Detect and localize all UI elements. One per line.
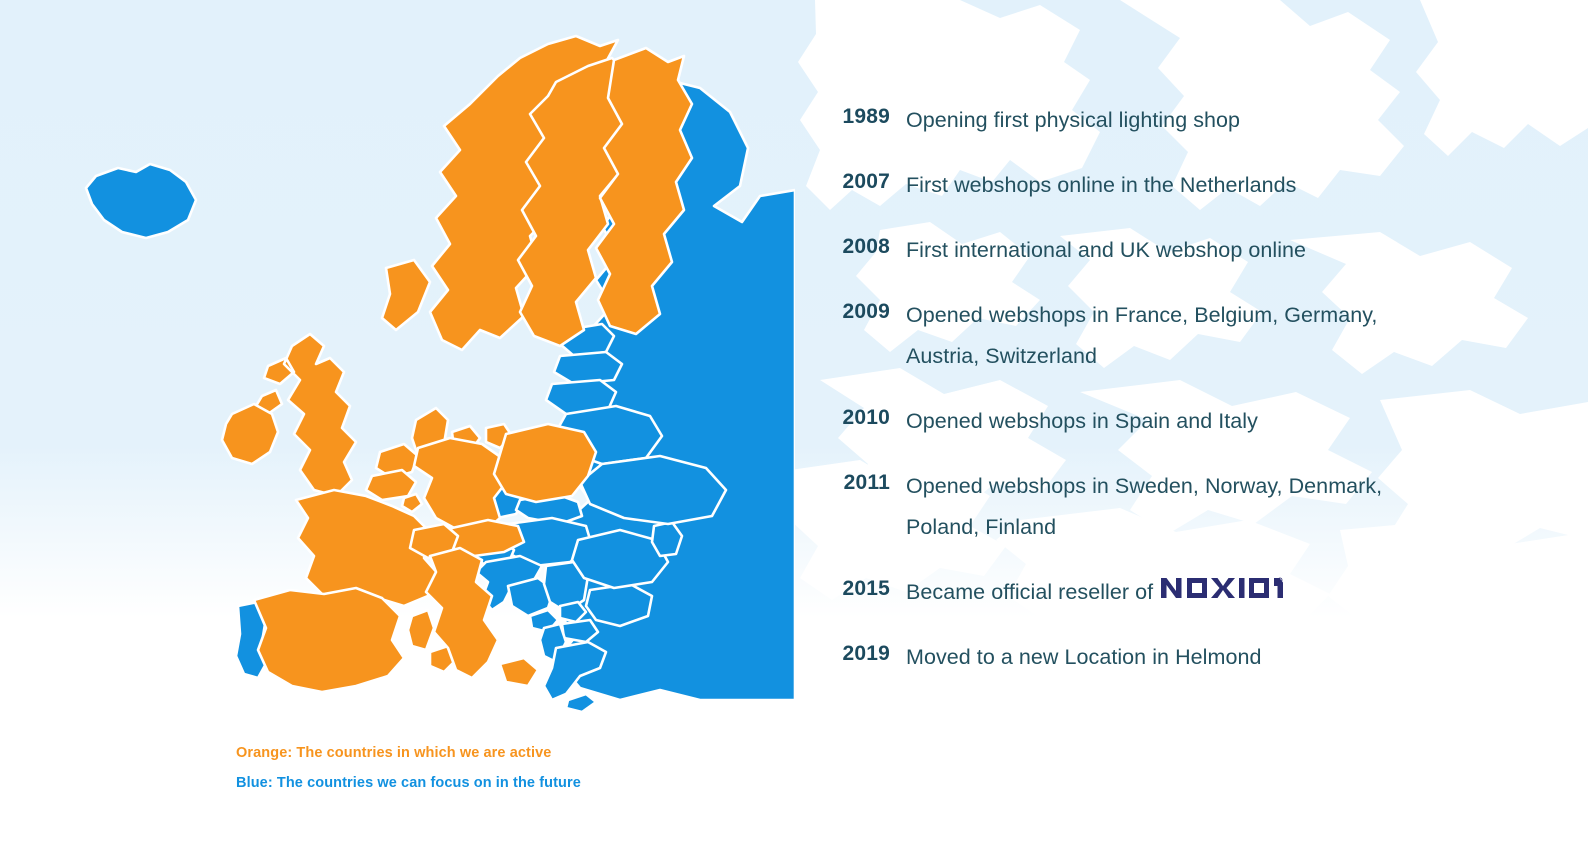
timeline-description-line1: Opened webshops in Spain and Italy [906,409,1258,433]
timeline-description-line1: First international and UK webshop onlin… [906,238,1306,262]
timeline-row: 2019 Moved to a new Location in Helmond [828,637,1528,678]
timeline-list: 1989 Opening first physical lighting sho… [828,100,1528,678]
timeline-description: First webshops online in the Netherlands [890,165,1528,206]
timeline-description: First international and UK webshop onlin… [890,230,1528,271]
infographic-root: Orange: The countries in which we are ac… [0,0,1588,850]
timeline-row: 2008 First international and UK webshop … [828,230,1528,271]
timeline-year: 2011 [828,466,890,499]
timeline-year: 2009 [828,295,890,328]
map-legend: Orange: The countries in which we are ac… [236,738,756,798]
timeline-row: 2015 Became official reseller of [828,572,1528,613]
timeline-description: Opened webshops in Sweden, Norway, Denma… [890,466,1528,548]
timeline-year: 2019 [828,637,890,670]
timeline-row: 1989 Opening first physical lighting sho… [828,100,1528,141]
timeline-year: 1989 [828,100,890,133]
timeline-description-line1: Became official reseller of [906,580,1153,604]
timeline-description-line1: Opened webshops in Sweden, Norway, Denma… [906,474,1382,498]
timeline-year: 2007 [828,165,890,198]
timeline-description-line1: Moved to a new Location in Helmond [906,645,1261,669]
timeline-description: Opened webshops in France, Belgium, Germ… [890,295,1528,377]
timeline-description-line2: Austria, Switzerland [906,336,1528,377]
timeline-row: 2010 Opened webshops in Spain and Italy [828,401,1528,442]
timeline-year: 2010 [828,401,890,434]
timeline-description: Moved to a new Location in Helmond [890,637,1528,678]
timeline-year: 2015 [828,572,890,605]
timeline-description-line1: Opening first physical lighting shop [906,108,1240,132]
timeline-description-line1: Opened webshops in France, Belgium, Germ… [906,303,1377,327]
timeline-description-line2: Poland, Finland [906,507,1528,548]
legend-blue-label: Blue: The countries we can focus on in t… [236,768,756,798]
timeline-description-line1: First webshops online in the Netherlands [906,173,1296,197]
noxion-logo[interactable] [1161,575,1283,601]
legend-orange-label: Orange: The countries in which we are ac… [236,738,756,768]
timeline-description: Became official reseller of [890,572,1528,613]
timeline-row: 2009 Opened webshops in France, Belgium,… [828,295,1528,377]
timeline-row: 2007 First webshops online in the Nether… [828,165,1528,206]
timeline-description: Opened webshops in Spain and Italy [890,401,1528,442]
timeline-description: Opening first physical lighting shop [890,100,1528,141]
europe-map[interactable] [0,0,812,720]
timeline-year: 2008 [828,230,890,263]
timeline-row: 2011 Opened webshops in Sweden, Norway, … [828,466,1528,548]
